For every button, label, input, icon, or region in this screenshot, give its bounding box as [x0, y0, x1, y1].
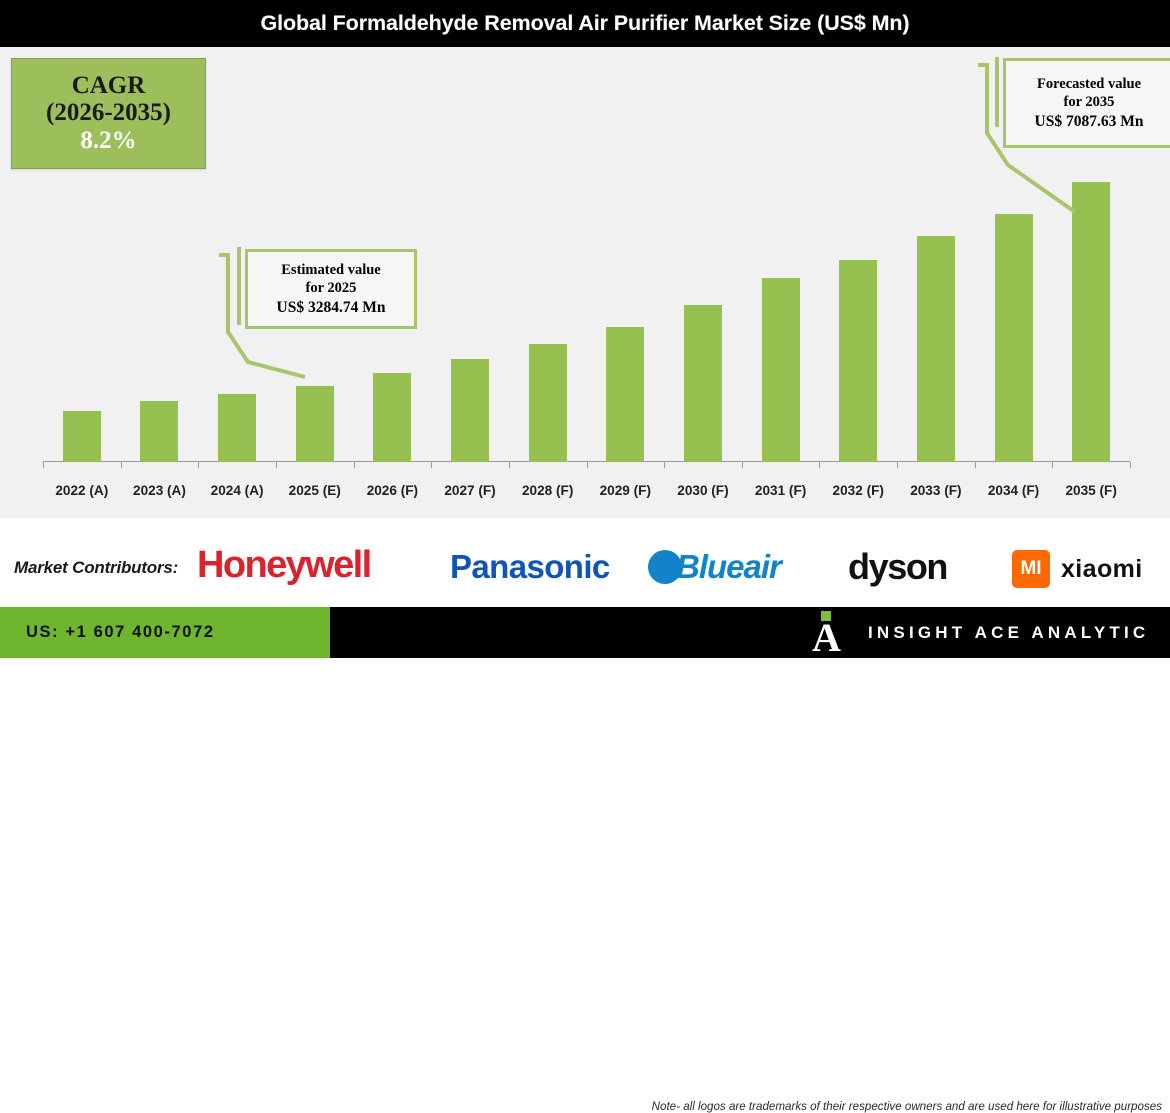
blueair-logo: Blueair	[648, 548, 781, 586]
estimated-callout-value: US$ 3284.74 Mn	[277, 298, 386, 318]
x-axis-label-2034: 2034 (F)	[975, 483, 1053, 498]
x-axis-label-2030: 2030 (F)	[664, 483, 742, 498]
x-axis-tick	[975, 462, 976, 468]
page-title: Global Formaldehyde Removal Air Purifier…	[260, 11, 909, 36]
forecasted-callout-line1: Forecasted value	[1037, 75, 1141, 94]
market-contributors-label: Market Contributors:	[14, 558, 178, 578]
x-axis-label-2025: 2025 (E)	[276, 483, 354, 498]
xiaomi-logo: MI xiaomi	[1012, 550, 1143, 588]
x-axis-label-2024: 2024 (A)	[198, 483, 276, 498]
footer-brand-block: A INSIGHT ACE ANALYTIC	[812, 607, 1149, 658]
blueair-logo-text: Blueair	[676, 548, 781, 586]
x-axis-tick	[276, 462, 277, 468]
x-axis-tick	[431, 462, 432, 468]
xiaomi-logo-text: xiaomi	[1061, 555, 1143, 584]
dyson-logo: dyson	[848, 546, 947, 588]
bar-2024	[218, 394, 256, 462]
forecasted-callout-value: US$ 7087.63 Mn	[1035, 112, 1144, 132]
x-axis-label-2033: 2033 (F)	[897, 483, 975, 498]
x-axis-tick	[1130, 462, 1131, 468]
x-axis-label-2035: 2035 (F)	[1052, 483, 1130, 498]
x-axis-label-2023: 2023 (A)	[121, 483, 199, 498]
x-axis-label-2029: 2029 (F)	[587, 483, 665, 498]
footer-contact-block: US: +1 607 400-7072	[0, 607, 330, 658]
estimated-callout-line1: Estimated value	[281, 261, 380, 280]
bar-2030	[684, 305, 722, 462]
infographic-root: Global Formaldehyde Removal Air Purifier…	[0, 0, 1170, 658]
x-axis-tick	[509, 462, 510, 468]
cagr-box: CAGR (2026-2035) 8.2%	[11, 58, 206, 169]
title-bar: Global Formaldehyde Removal Air Purifier…	[0, 0, 1170, 47]
x-axis-tick	[742, 462, 743, 468]
x-axis-label-2032: 2032 (F)	[819, 483, 897, 498]
footer-brand-name: INSIGHT ACE ANALYTIC	[868, 623, 1149, 643]
bar-2034	[995, 214, 1033, 462]
x-axis-tick	[43, 462, 44, 468]
logo-letter-a: A	[812, 622, 846, 655]
bar-2026	[373, 373, 411, 462]
x-axis-tick	[198, 462, 199, 468]
x-axis-tick	[587, 462, 588, 468]
x-axis-tick	[664, 462, 665, 468]
bar-2025	[296, 386, 334, 462]
bar-2031	[762, 278, 800, 462]
bar-2029	[606, 327, 644, 462]
panasonic-logo: Panasonic	[450, 548, 610, 586]
insight-ace-logo-icon: A	[812, 611, 846, 655]
x-axis-tick	[897, 462, 898, 468]
forecasted-value-callout: Forecasted value for 2035 US$ 7087.63 Mn	[1003, 58, 1170, 148]
cagr-period: (2026-2035)	[46, 99, 171, 126]
x-axis-label-2031: 2031 (F)	[742, 483, 820, 498]
cagr-value: 8.2%	[80, 126, 136, 156]
bar-2023	[140, 401, 178, 462]
cagr-label: CAGR	[72, 72, 146, 99]
chart-panel: 2022 (A)2023 (A)2024 (A)2025 (E)2026 (F)…	[0, 47, 1170, 519]
estimated-value-callout: Estimated value for 2025 US$ 3284.74 Mn	[245, 249, 417, 329]
honeywell-logo: Honeywell	[197, 544, 371, 587]
bar-2027	[451, 359, 489, 462]
market-contributors-strip: Market Contributors: Honeywell Panasonic…	[0, 518, 1170, 607]
bar-2033	[917, 236, 955, 462]
x-axis-tick	[1052, 462, 1053, 468]
x-axis-tick	[819, 462, 820, 468]
x-axis-label-2022: 2022 (A)	[43, 483, 121, 498]
x-axis-label-2028: 2028 (F)	[509, 483, 587, 498]
x-axis-label-2027: 2027 (F)	[431, 483, 509, 498]
estimated-callout-line2: for 2025	[306, 279, 357, 298]
x-axis-tick	[354, 462, 355, 468]
bar-2022	[63, 411, 101, 462]
xiaomi-mark-icon: MI	[1012, 550, 1050, 588]
bar-2032	[839, 260, 877, 462]
trademark-note: Note- all logos are trademarks of their …	[652, 1100, 1162, 1113]
x-axis-tick	[121, 462, 122, 468]
footer-phone: US: +1 607 400-7072	[26, 623, 215, 642]
bar-2028	[529, 344, 567, 462]
bar-2035	[1072, 182, 1110, 462]
footer-bar: US: +1 607 400-7072 A INSIGHT ACE ANALYT…	[0, 607, 1170, 658]
x-axis-label-2026: 2026 (F)	[354, 483, 432, 498]
forecasted-callout-line2: for 2035	[1064, 93, 1115, 112]
